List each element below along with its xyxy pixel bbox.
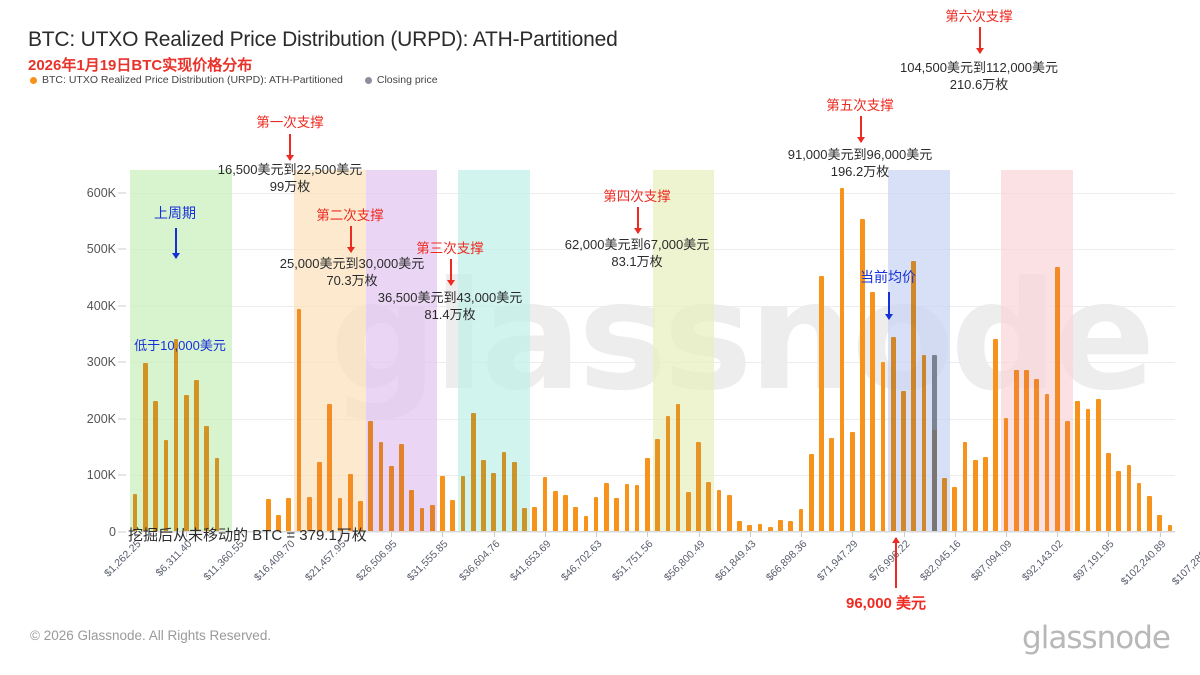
- annotation-support-4: 第四次支撑: [595, 188, 679, 205]
- support-4-amount-text: 83.1万枚: [547, 254, 727, 271]
- bar[interactable]: [901, 391, 906, 532]
- bar[interactable]: [174, 339, 179, 532]
- bar[interactable]: [440, 476, 445, 532]
- bar[interactable]: [614, 498, 619, 532]
- legend-dot-closing-price: [365, 77, 372, 84]
- bar[interactable]: [799, 509, 804, 532]
- bar[interactable]: [881, 362, 886, 532]
- bar[interactable]: [481, 460, 486, 532]
- annotation-below-10k: 低于10,000美元: [130, 338, 230, 355]
- bar[interactable]: [563, 495, 568, 532]
- x-axis-label: $71,947.29: [815, 538, 861, 584]
- bar[interactable]: [532, 507, 537, 532]
- y-axis-tick: [118, 418, 126, 419]
- arrow-support-1: [289, 134, 290, 160]
- bar[interactable]: [942, 478, 947, 532]
- support-6-range-text: 104,500美元到112,000美元: [879, 60, 1079, 77]
- bar[interactable]: [1086, 409, 1091, 532]
- bar[interactable]: [522, 508, 527, 532]
- bar[interactable]: [717, 490, 722, 532]
- support-2-amount-text: 70.3万枚: [262, 273, 442, 290]
- annotation-support-3-range: 36,500美元到43,000美元 81.4万枚: [360, 290, 540, 323]
- bar[interactable]: [1034, 379, 1039, 532]
- bar[interactable]: [1147, 496, 1152, 532]
- arrow-prev-cycle: [175, 228, 176, 258]
- bar[interactable]: [922, 355, 927, 532]
- bar[interactable]: [645, 458, 650, 532]
- y-axis-label: 500K: [87, 242, 116, 256]
- bar[interactable]: [1137, 483, 1142, 532]
- legend-item-urpd[interactable]: BTC: UTXO Realized Price Distribution (U…: [30, 74, 343, 86]
- never-moved-note: 挖掘后从未移动的 BTC = 379.1万枚: [128, 524, 367, 545]
- annotation-current-avg: 当前均价: [852, 269, 924, 287]
- legend-label-closing-price: Closing price: [377, 74, 438, 86]
- bar[interactable]: [420, 508, 425, 532]
- bar-series: [130, 170, 1175, 532]
- bar[interactable]: [471, 413, 476, 532]
- bar[interactable]: [993, 339, 998, 532]
- bar[interactable]: [450, 500, 455, 532]
- bar[interactable]: [860, 219, 865, 532]
- x-axis-label: $87,094.09: [969, 538, 1015, 584]
- bar[interactable]: [1127, 465, 1132, 532]
- annotation-support-1: 第一次支撑: [248, 114, 332, 131]
- bar[interactable]: [819, 276, 824, 532]
- y-axis-tick: [118, 192, 126, 193]
- closing-price-bar[interactable]: [932, 355, 937, 532]
- bar[interactable]: [512, 462, 517, 532]
- y-axis-tick: [118, 475, 126, 476]
- bar[interactable]: [850, 432, 855, 532]
- bar[interactable]: [706, 482, 711, 532]
- x-axis-label: $46,702.63: [559, 538, 605, 584]
- bar[interactable]: [399, 444, 404, 532]
- bar[interactable]: [297, 309, 302, 532]
- bar[interactable]: [1004, 418, 1009, 532]
- bar[interactable]: [409, 490, 414, 532]
- page-subtitle: 2026年1月19日BTC实现价格分布: [28, 54, 252, 75]
- bar[interactable]: [194, 380, 199, 532]
- y-axis-label: 200K: [87, 412, 116, 426]
- x-axis-label: $97,191.95: [1071, 538, 1117, 584]
- bar[interactable]: [215, 458, 220, 532]
- bar[interactable]: [389, 466, 394, 532]
- bar[interactable]: [143, 363, 148, 532]
- bar[interactable]: [317, 462, 322, 532]
- y-axis-label: 100K: [87, 468, 116, 482]
- support-2-range-text: 25,000美元到30,000美元: [262, 256, 442, 273]
- bar[interactable]: [164, 440, 169, 532]
- bar[interactable]: [911, 261, 916, 533]
- bar[interactable]: [461, 476, 466, 532]
- bar[interactable]: [983, 457, 988, 532]
- copyright-text: © 2026 Glassnode. All Rights Reserved.: [30, 628, 271, 643]
- arrow-current-price: [895, 538, 896, 588]
- annotation-support-6: 第六次支撑: [937, 8, 1021, 25]
- bar[interactable]: [1096, 399, 1101, 532]
- bar[interactable]: [604, 483, 609, 532]
- support-4-range-text: 62,000美元到67,000美元: [547, 237, 727, 254]
- brand-logo: glassnode: [1022, 620, 1170, 656]
- bar[interactable]: [973, 460, 978, 532]
- bar[interactable]: [870, 292, 875, 532]
- x-axis-label: $76,996.22: [866, 538, 912, 584]
- support-5-range-text: 91,000美元到96,000美元: [770, 147, 950, 164]
- y-axis-tick: [118, 362, 126, 363]
- y-axis-tick: [118, 249, 126, 250]
- bar[interactable]: [829, 438, 834, 532]
- bar[interactable]: [584, 516, 589, 532]
- y-axis-tick: [118, 305, 126, 306]
- x-axis-label: $107,289.82: [1170, 538, 1200, 588]
- bar[interactable]: [184, 395, 189, 532]
- bar[interactable]: [553, 491, 558, 532]
- bar[interactable]: [594, 497, 599, 532]
- y-axis-label: 400K: [87, 299, 116, 313]
- arrow-support-4: [637, 207, 638, 233]
- bar[interactable]: [666, 416, 671, 532]
- x-axis-label: $61,849.43: [713, 538, 759, 584]
- bar[interactable]: [573, 507, 578, 532]
- y-axis: 0100K200K300K400K500K600K: [0, 170, 126, 532]
- bar[interactable]: [204, 426, 209, 532]
- support-1-range-text: 16,500美元到22,500美元: [200, 162, 380, 179]
- bar[interactable]: [502, 452, 507, 532]
- x-axis-label: $82,045.16: [918, 538, 964, 584]
- support-6-amount-text: 210.6万枚: [879, 77, 1079, 94]
- bar[interactable]: [891, 337, 896, 532]
- annotation-prev-cycle: 上周期: [140, 205, 210, 223]
- page-title: BTC: UTXO Realized Price Distribution (U…: [28, 28, 618, 52]
- annotation-support-6-range: 104,500美元到112,000美元 210.6万枚: [879, 60, 1079, 93]
- annotation-support-2-range: 25,000美元到30,000美元 70.3万枚: [262, 256, 442, 289]
- bar[interactable]: [543, 477, 548, 532]
- legend-item-closing-price[interactable]: Closing price: [365, 74, 438, 86]
- support-5-amount-text: 196.2万枚: [770, 164, 950, 181]
- bar[interactable]: [635, 485, 640, 533]
- bar[interactable]: [840, 188, 845, 532]
- chart-legend: BTC: UTXO Realized Price Distribution (U…: [30, 74, 438, 86]
- bar[interactable]: [676, 404, 681, 532]
- bar[interactable]: [1045, 394, 1050, 532]
- x-axis-label: $66,898.36: [764, 538, 810, 584]
- annotation-support-5: 第五次支撑: [818, 97, 902, 114]
- x-axis-label: $92,143.02: [1020, 538, 1066, 584]
- bar[interactable]: [963, 442, 968, 533]
- legend-dot-urpd: [30, 77, 37, 84]
- arrow-support-5: [860, 116, 861, 142]
- bar[interactable]: [379, 442, 384, 533]
- bar[interactable]: [686, 492, 691, 532]
- bar[interactable]: [696, 442, 701, 533]
- bar[interactable]: [655, 439, 660, 532]
- bar[interactable]: [491, 473, 496, 532]
- bar[interactable]: [153, 401, 158, 532]
- bar[interactable]: [1014, 370, 1019, 532]
- x-axis-label: $36,604.76: [457, 538, 503, 584]
- x-axis-label: $41,653.69: [508, 538, 554, 584]
- bar[interactable]: [727, 495, 732, 532]
- bar[interactable]: [1106, 453, 1111, 532]
- chart-plot-area: [130, 170, 1175, 532]
- bar[interactable]: [625, 484, 630, 532]
- x-axis-label: $31,555.85: [405, 538, 451, 584]
- bar[interactable]: [430, 505, 435, 532]
- arrow-support-6: [979, 27, 980, 53]
- legend-label-urpd: BTC: UTXO Realized Price Distribution (U…: [42, 74, 343, 86]
- current-price-note: 96,000 美元: [846, 592, 926, 613]
- bar[interactable]: [327, 404, 332, 532]
- support-1-amount-text: 99万枚: [200, 179, 380, 196]
- arrow-current-avg: [888, 292, 889, 319]
- arrow-support-3: [450, 259, 451, 285]
- y-axis-label: 600K: [87, 186, 116, 200]
- bar[interactable]: [1055, 267, 1060, 532]
- y-axis-label: 300K: [87, 355, 116, 369]
- x-axis-label: $51,751.56: [610, 538, 656, 584]
- annotation-support-4-range: 62,000美元到67,000美元 83.1万枚: [547, 237, 727, 270]
- support-3-range-text: 36,500美元到43,000美元: [360, 290, 540, 307]
- annotation-support-2: 第二次支撑: [308, 207, 392, 224]
- bar[interactable]: [952, 487, 957, 532]
- annotation-support-1-range: 16,500美元到22,500美元 99万枚: [200, 162, 380, 195]
- bar[interactable]: [1075, 401, 1080, 532]
- bar[interactable]: [1157, 515, 1162, 532]
- bar[interactable]: [1024, 370, 1029, 532]
- support-3-amount-text: 81.4万枚: [360, 307, 540, 324]
- x-axis-label: $102,240.89: [1118, 538, 1168, 588]
- bar[interactable]: [1116, 471, 1121, 532]
- bar[interactable]: [368, 421, 373, 532]
- bar[interactable]: [1065, 421, 1070, 532]
- arrow-support-2: [350, 226, 351, 252]
- annotation-support-5-range: 91,000美元到96,000美元 196.2万枚: [770, 147, 950, 180]
- x-axis-label: $56,800.49: [661, 538, 707, 584]
- annotation-support-3: 第三次支撑: [408, 240, 492, 257]
- bar[interactable]: [809, 454, 814, 532]
